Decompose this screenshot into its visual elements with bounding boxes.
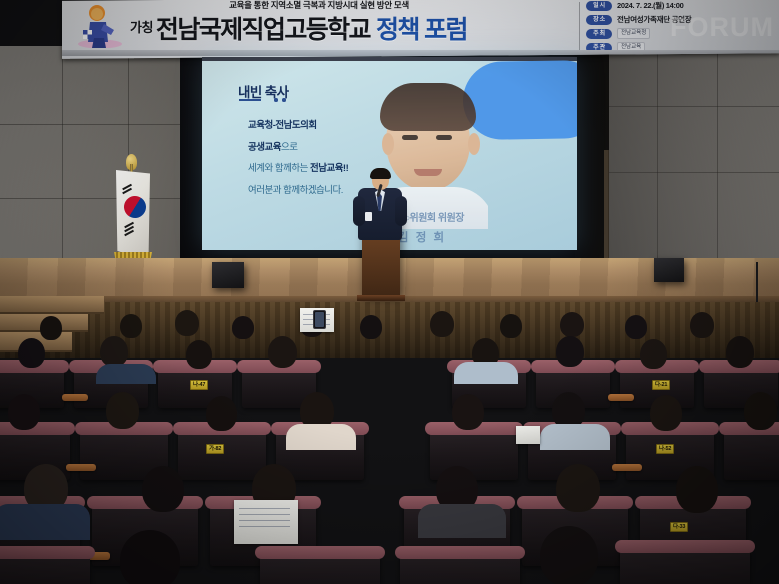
info-tag: 장 소: [586, 14, 612, 24]
seat[interactable]: [0, 550, 90, 584]
auditorium-photo: 교육을 통한 지역소멸 극복과 지방시대 실현 방안 모색 가칭전남국제직업고등…: [0, 0, 779, 584]
phone-camera: [313, 310, 326, 329]
mascot-illustration: [74, 4, 126, 48]
slide-signature-title: 도의회 ○○위원회 위원장: [292, 209, 542, 224]
audience-area: 나-47 다-21 가-82 나-52: [0, 300, 779, 584]
slide-line-bold: 공생교육: [248, 142, 281, 153]
seat-tag: 다-33: [670, 522, 688, 532]
handout-paper: [516, 426, 540, 444]
forum-watermark: FORUM: [670, 12, 774, 43]
seat-tag: 다-21: [652, 380, 670, 390]
slide-line-tail: 전남교육!!: [310, 163, 348, 174]
mic-stand-right: [756, 262, 758, 302]
seat-tag: 나-47: [190, 380, 208, 390]
seat[interactable]: [724, 426, 779, 480]
info-value: 2024. 7. 22.(월) 14:00: [617, 0, 683, 11]
slide-line-rest: 세계와 함께하는: [248, 163, 310, 174]
banner-title-main: 전남국제직업고등학교: [156, 16, 370, 44]
banner-title: 가칭전남국제직업고등학교정책 포럼: [130, 10, 467, 46]
seat[interactable]: [400, 550, 520, 584]
banner-title-prefix: 가칭: [130, 20, 153, 35]
host-logo: 전남교육청: [617, 28, 650, 39]
banner-divider: [579, 2, 580, 50]
speaker-person: [352, 170, 408, 262]
stage-monitor-right: [654, 258, 684, 282]
slide-line-rest: 여러분과 함께하겠습니다.: [248, 185, 343, 196]
slide-heading-underline: [239, 99, 261, 101]
seat-tag: 나-52: [656, 444, 674, 454]
seat[interactable]: [260, 550, 380, 584]
banner-info-row: 일 시 2024. 7. 22.(월) 14:00: [586, 0, 776, 12]
seat[interactable]: [620, 544, 750, 584]
seat-tag: 가-82: [206, 444, 224, 454]
slide-line-rest: 으로: [281, 142, 297, 153]
slide-line-bold: 교육청-전남도의회: [248, 120, 317, 131]
banner-title-accent: 정책 포럼: [376, 16, 467, 44]
info-tag: 일 시: [586, 0, 612, 10]
stage-monitor-left: [212, 262, 244, 288]
info-tag: 주 최: [586, 29, 612, 39]
event-banner: 교육을 통한 지역소멸 극복과 지방시대 실현 방안 모색 가칭전남국제직업고등…: [62, 0, 779, 59]
slide-heading: 내빈 축사: [238, 81, 288, 101]
program-booklet: [234, 500, 298, 544]
